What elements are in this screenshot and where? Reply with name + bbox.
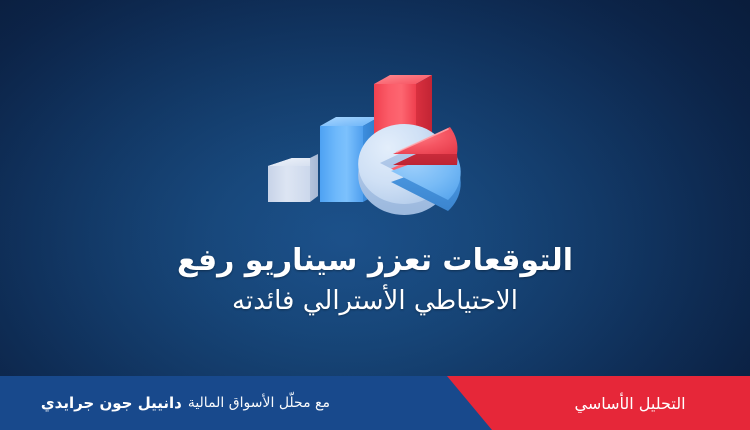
headline: التوقعات تعزز سيناريو رفع الاحتياطي الأس… — [0, 246, 750, 314]
headline-line-1: التوقعات تعزز سيناريو رفع — [0, 246, 750, 278]
byline-analyst-name: دانييل جون جرايدي — [41, 394, 182, 412]
chart-illustration — [258, 62, 518, 230]
section-label: التحليل الأساسي — [510, 376, 750, 430]
headline-line-2: الاحتياطي الأسترالي فائدته — [0, 288, 750, 314]
pie-chart — [358, 124, 461, 215]
byline: مع محلّل الأسواق المالية دانييل جون جراي… — [41, 376, 330, 430]
byline-prefix: مع محلّل الأسواق المالية — [188, 395, 330, 411]
banner-root: التوقعات تعزز سيناريو رفع الاحتياطي الأس… — [0, 0, 750, 430]
footer-bar: مع محلّل الأسواق المالية دانييل جون جراي… — [0, 376, 750, 430]
bar-small — [268, 154, 318, 202]
